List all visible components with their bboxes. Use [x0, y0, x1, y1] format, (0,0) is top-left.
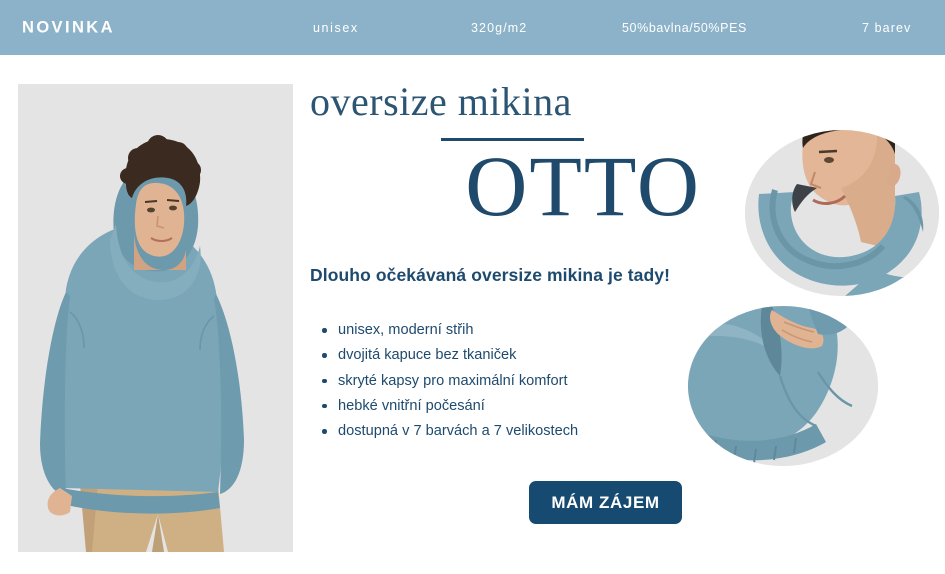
- headline-product-name: OTTO: [310, 143, 710, 229]
- hero-photo-illustration: [18, 84, 293, 552]
- detail-photo-pocket: [688, 306, 878, 466]
- bullet-dot-icon: [322, 379, 327, 384]
- bullet-dot-icon: [322, 328, 327, 333]
- feature-text: hebké vnitřní počesání: [338, 398, 485, 414]
- list-item: unisex, moderní střih: [322, 318, 578, 343]
- detail-photo-hood: [745, 130, 939, 296]
- spec-item-weight: 320g/m2: [471, 21, 527, 35]
- subheading: Dlouho očekávaná oversize mikina je tady…: [310, 265, 670, 286]
- feature-list: unisex, moderní střih dvojitá kapuce bez…: [322, 318, 578, 444]
- feature-text: dvojitá kapuce bez tkaniček: [338, 347, 516, 363]
- brand-label: NOVINKA: [22, 18, 115, 37]
- hood-closeup-illustration: [745, 130, 939, 296]
- list-item: dvojitá kapuce bez tkaniček: [322, 343, 578, 368]
- headline-primary: oversize mikina: [310, 80, 710, 124]
- top-banner: NOVINKA unisex 320g/m2 50%bavlna/50%PES …: [0, 0, 945, 55]
- feature-text: skryté kapsy pro maximální komfort: [338, 373, 568, 389]
- bullet-dot-icon: [322, 404, 327, 409]
- bullet-dot-icon: [322, 353, 327, 358]
- list-item: dostupná v 7 barvách a 7 velikostech: [322, 419, 578, 444]
- bullet-dot-icon: [322, 429, 327, 434]
- hero-product-photo: [18, 84, 293, 552]
- list-item: skryté kapsy pro maximální komfort: [322, 369, 578, 394]
- spec-item-colors: 7 barev: [862, 21, 911, 35]
- cta-button[interactable]: MÁM ZÁJEM: [529, 481, 682, 524]
- spec-item-material: 50%bavlna/50%PES: [622, 21, 747, 35]
- headline-block: oversize mikina OTTO: [310, 80, 710, 229]
- feature-text: dostupná v 7 barvách a 7 velikostech: [338, 423, 578, 439]
- pocket-closeup-illustration: [688, 306, 878, 466]
- feature-text: unisex, moderní střih: [338, 322, 473, 338]
- spec-item-fit: unisex: [313, 21, 359, 35]
- list-item: hebké vnitřní počesání: [322, 394, 578, 419]
